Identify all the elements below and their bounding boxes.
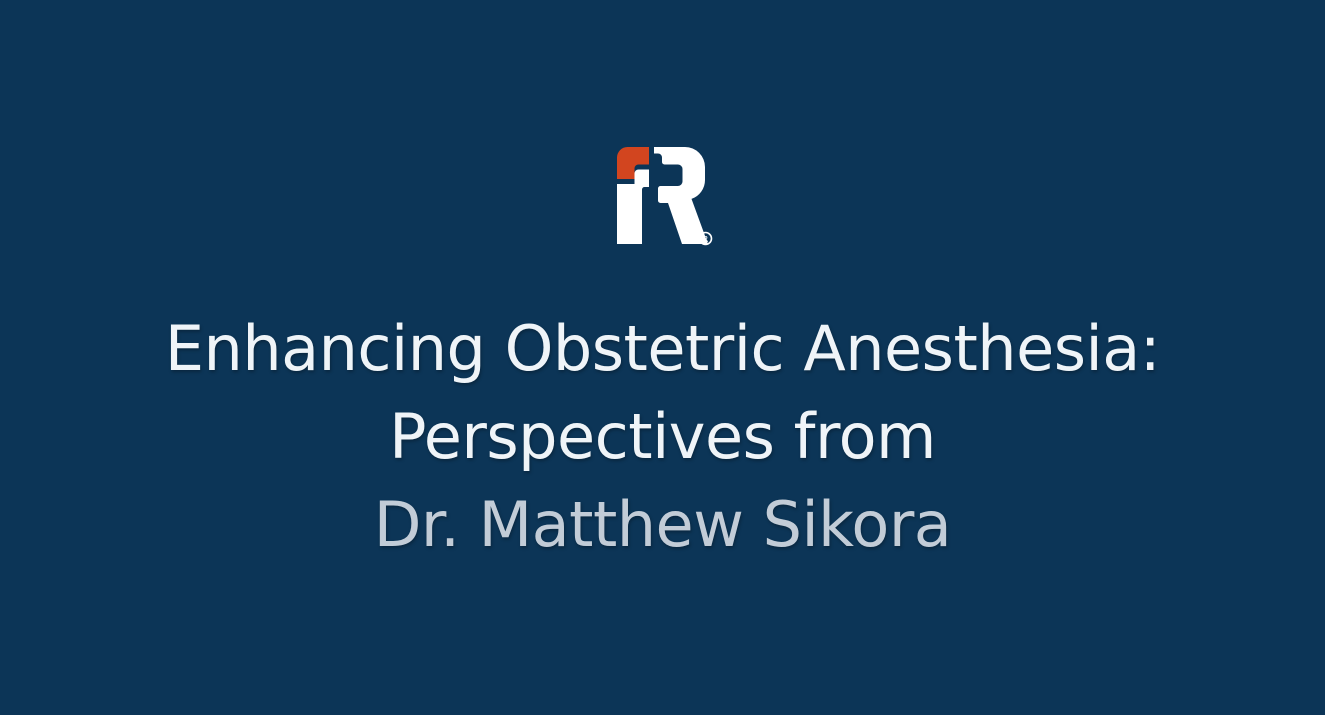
logo-container: R — [0, 143, 1325, 250]
company-r-monogram-logo-icon: R — [613, 143, 713, 250]
page-title-line-2: Perspectives from — [40, 393, 1285, 481]
page-title-line-1: Enhancing Obstetric Anesthesia: — [40, 305, 1285, 393]
svg-text:R: R — [702, 235, 708, 244]
page-subtitle: Dr. Matthew Sikora — [40, 481, 1285, 569]
title-block: Enhancing Obstetric Anesthesia: Perspect… — [0, 305, 1325, 569]
title-slide: R Enhancing Obstetric Anesthesia: Perspe… — [0, 0, 1325, 715]
